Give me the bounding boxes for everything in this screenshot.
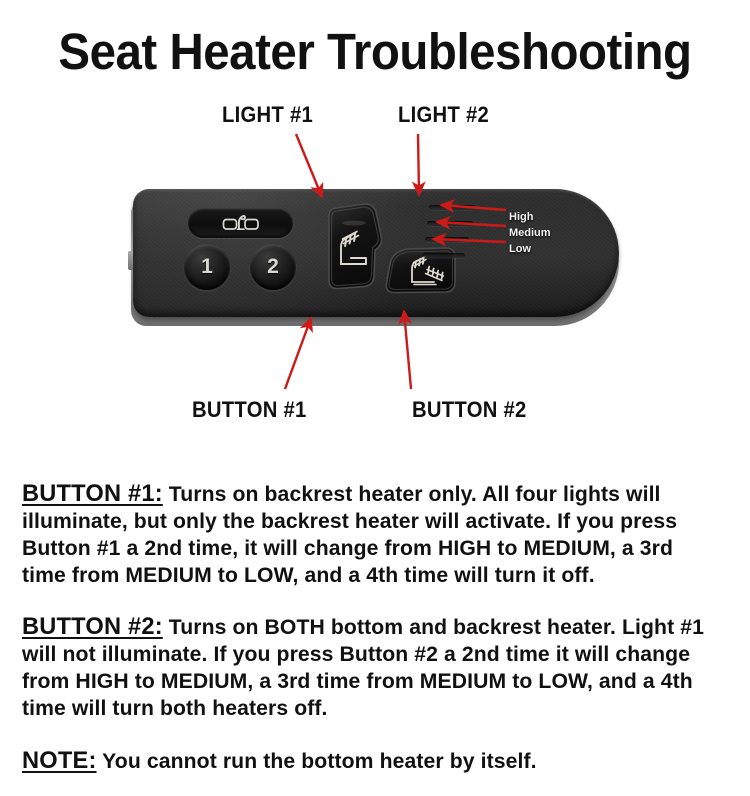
preset-button-1-label: 1: [201, 255, 213, 279]
preset-button-2-label: 2: [267, 255, 279, 279]
heater-button-1-shape: [324, 202, 386, 290]
arrow-light-1: [296, 134, 322, 197]
arrow-light-2: [418, 134, 419, 195]
indicator-label-high: High: [509, 211, 533, 223]
paragraph-button-2-lead: BUTTON #2:: [22, 613, 163, 640]
paragraph-button-2: BUTTON #2: Turns on BOTH bottom and back…: [22, 613, 719, 722]
callout-label-button-1: BUTTON #1: [192, 397, 307, 423]
memory-seat-button[interactable]: [188, 208, 293, 238]
callout-label-button-2: BUTTON #2: [412, 397, 527, 423]
page-title: Seat Heater Troubleshooting: [26, 26, 724, 77]
paragraph-button-1-lead: BUTTON #1:: [22, 480, 163, 507]
indicator-led-low: [423, 253, 465, 258]
heater-button-1[interactable]: [324, 202, 386, 290]
arrow-button-1: [285, 318, 311, 389]
paragraph-button-1: BUTTON #1: Turns on backrest heater only…: [22, 480, 719, 589]
memory-seat-icon: [222, 214, 260, 232]
seat-heater-control-panel: 1 2: [131, 189, 621, 327]
indicator-led-0: [429, 205, 475, 210]
paragraph-note-body: You cannot run the bottom heater by itse…: [97, 749, 537, 773]
paragraph-note-lead: NOTE:: [22, 747, 97, 774]
callout-label-light-1: LIGHT #1: [222, 102, 313, 128]
preset-button-2[interactable]: 2: [250, 244, 296, 290]
indicator-led-high: [427, 221, 473, 226]
paragraph-note: NOTE: You cannot run the bottom heater b…: [22, 747, 719, 775]
indicator-label-low: Low: [509, 243, 531, 255]
indicator-led-medium: [425, 237, 469, 242]
seat-heater-control-figure: 1 2: [0, 92, 750, 437]
indicator-label-medium: Medium: [509, 227, 551, 239]
instructions-body: BUTTON #1: Turns on backrest heater only…: [22, 458, 730, 796]
panel-left-nub: [128, 251, 133, 270]
preset-button-1[interactable]: 1: [184, 244, 230, 290]
callout-label-light-2: LIGHT #2: [398, 102, 489, 128]
